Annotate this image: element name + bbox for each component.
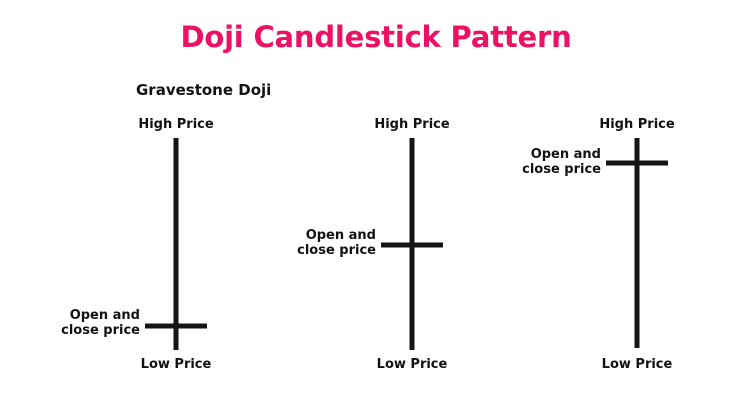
open-close-price-label-1-line1: Open and: [61, 308, 140, 323]
low-price-label-2: Low Price: [377, 357, 448, 372]
wick-line-1: [174, 138, 179, 350]
open-close-price-label-2-line1: Open and: [297, 228, 376, 243]
open-close-bar-2: [381, 243, 443, 248]
high-price-label-3: High Price: [599, 117, 674, 132]
open-close-bar-3: [606, 161, 668, 166]
section-label-gravestone-doji: Gravestone Doji: [136, 81, 271, 99]
open-close-price-label-3-line2: close price: [522, 162, 601, 177]
high-price-label-1: High Price: [138, 117, 213, 132]
low-price-label-1: Low Price: [141, 357, 212, 372]
open-close-price-label-2: Open and close price: [297, 228, 376, 258]
open-close-price-label-3: Open and close price: [522, 147, 601, 177]
page-title: Doji Candlestick Pattern: [0, 20, 752, 54]
low-price-label-3: Low Price: [602, 357, 673, 372]
open-close-price-label-1: Open and close price: [61, 308, 140, 338]
open-close-bar-1: [145, 324, 207, 329]
high-price-label-2: High Price: [374, 117, 449, 132]
open-close-price-label-2-line2: close price: [297, 243, 376, 258]
wick-line-3: [635, 138, 640, 348]
infographic-canvas: Doji Candlestick Pattern Gravestone Doji…: [0, 0, 752, 408]
open-close-price-label-1-line2: close price: [61, 323, 140, 338]
open-close-price-label-3-line1: Open and: [522, 147, 601, 162]
